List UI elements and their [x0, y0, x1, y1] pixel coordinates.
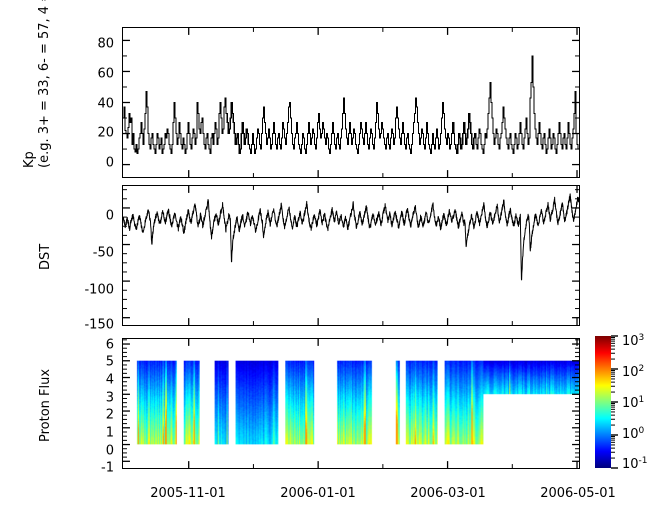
flux-ytick-5: 5: [84, 356, 114, 369]
flux-ytick-m1: -1: [76, 462, 114, 475]
flux-ytick-0: 0: [84, 445, 114, 458]
kp-ytick-40: 40: [78, 98, 114, 111]
dst-ytick-m150: -150: [60, 319, 114, 332]
kp-axis-title-line2: (e.g. 3+ = 33, 6- = 57, 4 = 40, etc.): [37, 0, 52, 168]
colorbar-tick-1e1: 101: [622, 394, 644, 410]
colorbar-tick-1e0: 100: [622, 425, 644, 441]
xtick-2006-01-01: 2006-01-01: [280, 487, 356, 500]
dst-axis-title: DST: [38, 244, 53, 270]
flux-ytick-4: 4: [84, 374, 114, 387]
xtick-2005-11-01: 2005-11-01: [150, 487, 226, 500]
colorbar-tick-1e2: 102: [622, 363, 644, 379]
kp-plot-area: [123, 28, 579, 177]
figure-canvas: Kp (e.g. 3+ = 33, 6- = 57, 4 = 40, etc.)…: [0, 0, 665, 523]
xtick-2006-05-01: 2006-05-01: [540, 487, 616, 500]
kp-ytick-20: 20: [78, 127, 114, 140]
dst-plot-area: [123, 186, 579, 325]
dst-ytick-0: 0: [60, 210, 114, 223]
dst-ytick-m50: -50: [60, 247, 114, 260]
colorbar-tick-1e3: 103: [622, 332, 644, 348]
xtick-2006-03-01: 2006-03-01: [410, 487, 486, 500]
kp-axis-title-line1: Kp: [22, 151, 37, 168]
flux-ytick-1: 1: [84, 427, 114, 440]
kp-ytick-80: 80: [78, 38, 114, 51]
flux-ytick-6: 6: [84, 339, 114, 352]
kp-ytick-0: 0: [78, 157, 114, 170]
colorbar-tick-1em1: 10-1: [622, 455, 648, 471]
flux-axis-title: Proton Flux: [38, 369, 53, 442]
dst-panel: [122, 185, 580, 326]
kp-panel: [122, 27, 580, 178]
colorbar: [595, 336, 611, 468]
flux-panel: [122, 338, 580, 469]
dst-ytick-m100: -100: [60, 284, 114, 297]
kp-axis-title: Kp (e.g. 3+ = 33, 6- = 57, 4 = 40, etc.): [22, 0, 52, 168]
flux-ytick-3: 3: [84, 392, 114, 405]
flux-plot-area: [123, 339, 579, 468]
colorbar-gradient: [595, 336, 611, 468]
kp-ytick-60: 60: [78, 68, 114, 81]
flux-ytick-2: 2: [84, 409, 114, 422]
